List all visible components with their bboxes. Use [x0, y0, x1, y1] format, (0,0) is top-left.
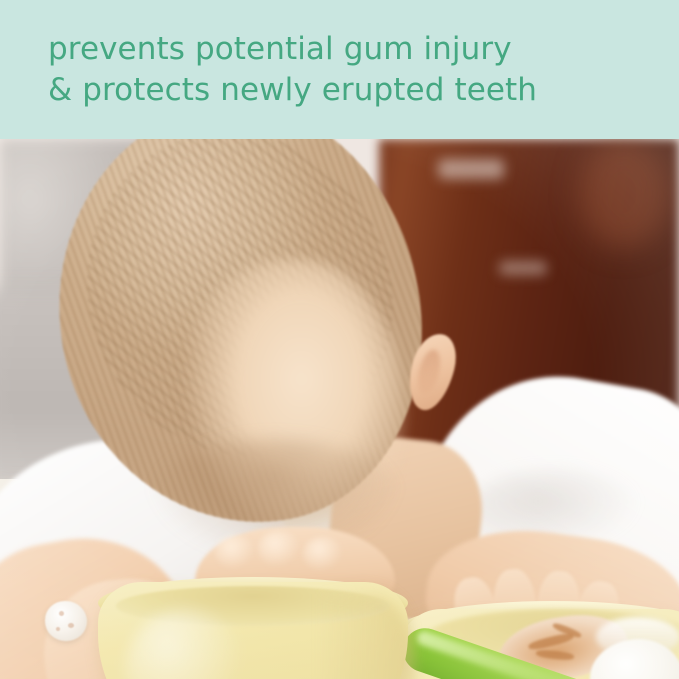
product-feature-card: prevents potential gum injury & protects… [0, 0, 679, 679]
puff-speck [68, 623, 74, 628]
puff-speck [56, 627, 60, 631]
snack-puff [45, 601, 87, 641]
wood-highlight [499, 261, 547, 275]
wood-highlight [438, 159, 504, 179]
feature-banner: prevents potential gum injury & protects… [0, 0, 679, 139]
knuckle-highlight [303, 537, 343, 571]
banner-headline-line-1: prevents potential gum injury [48, 29, 679, 70]
wood-highlight [579, 139, 669, 249]
knuckle-highlight [215, 535, 255, 569]
banner-headline-line-2: & protects newly erupted teeth [48, 70, 679, 111]
product-lifestyle-photo [0, 139, 679, 679]
puff-speck [59, 611, 64, 616]
knuckle-highlight [258, 531, 300, 567]
